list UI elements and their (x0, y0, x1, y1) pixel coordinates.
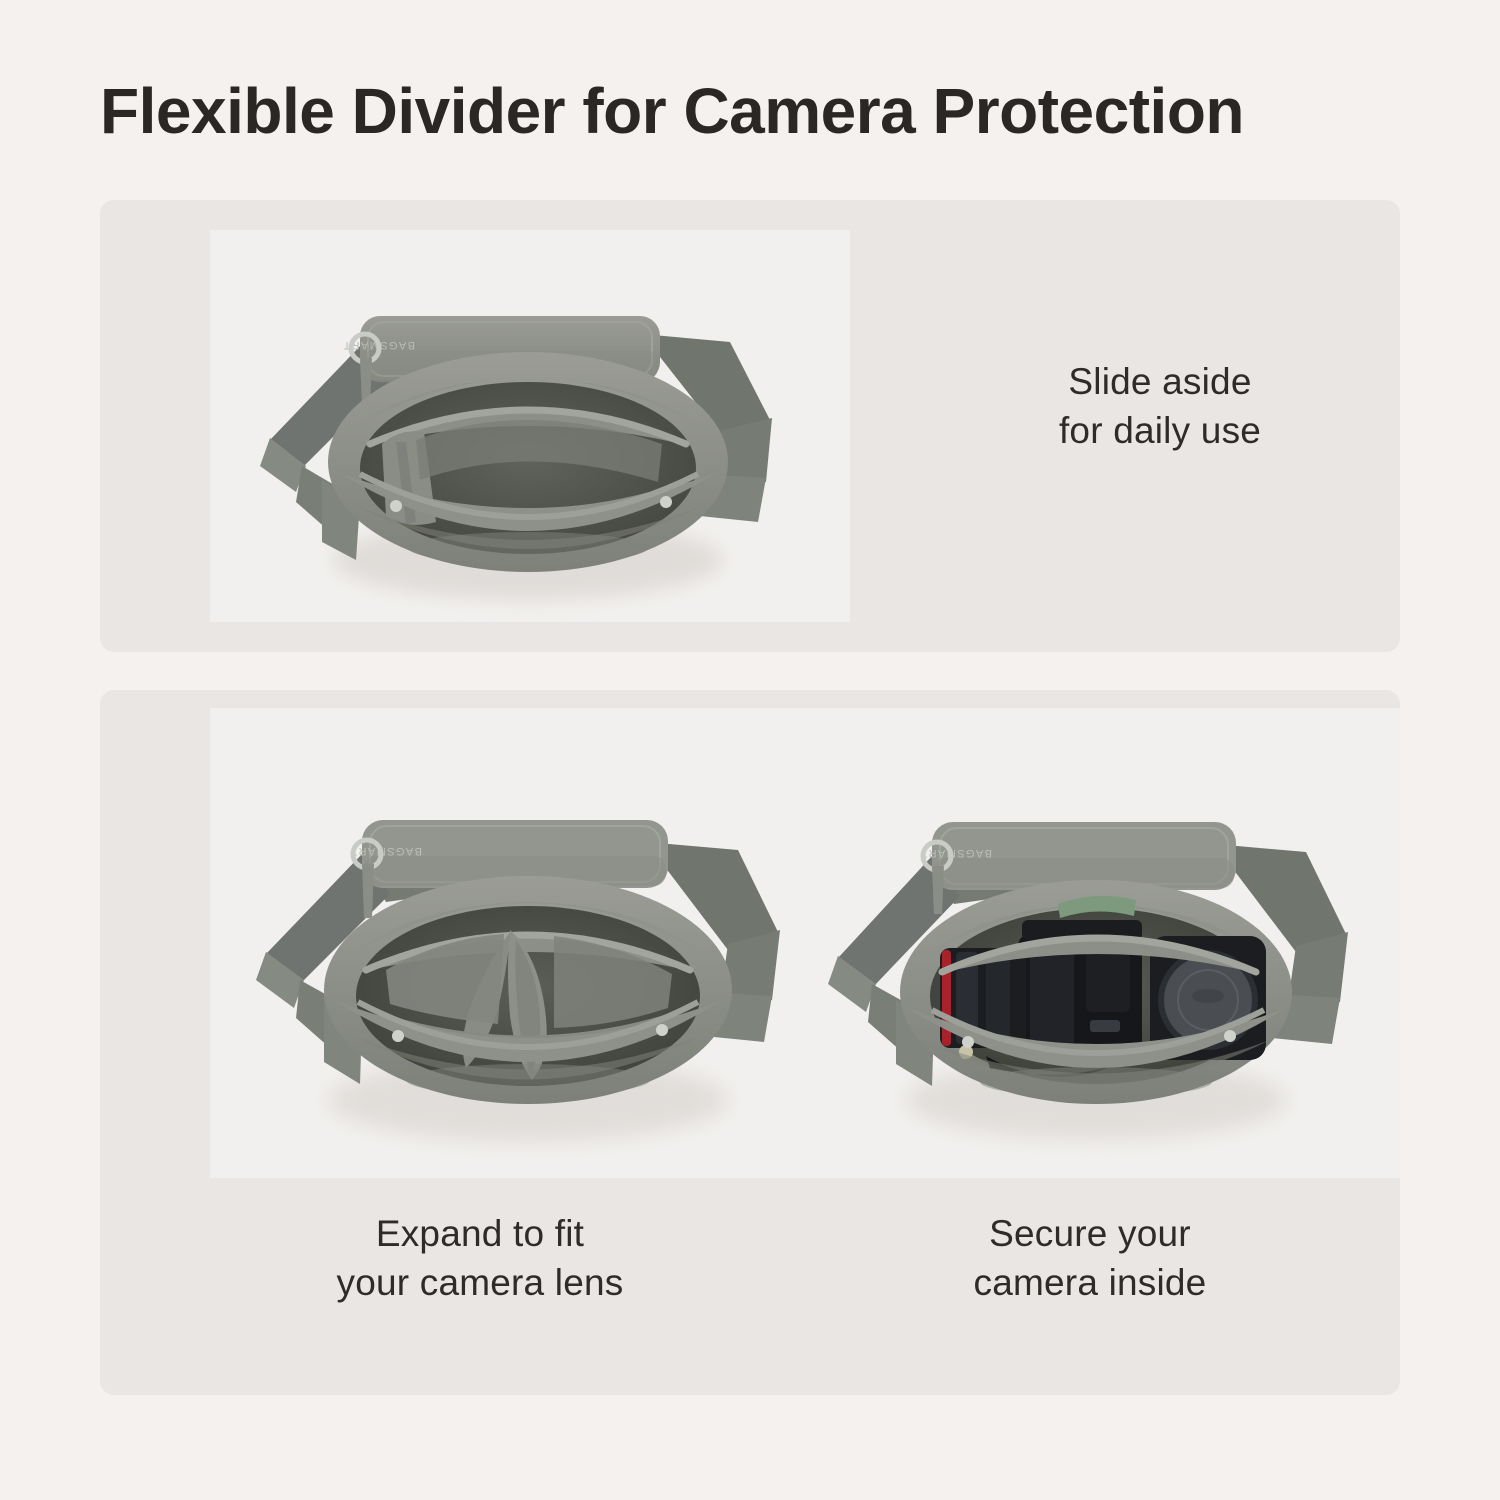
bag-body (328, 352, 728, 572)
photo-bag-with-camera: BAGSMART (790, 708, 1400, 1178)
photo-bag-divider-slid-aside: BAGSMART (210, 230, 850, 622)
shoulder-pad: BAGSMART (919, 822, 1236, 890)
caption-line-1: Expand to fit (190, 1210, 770, 1259)
zipper-pull-secondary (660, 496, 672, 508)
infographic-page: Flexible Divider for Camera Protection (0, 0, 1500, 1500)
brand-label: BAGSMART (349, 845, 422, 857)
caption-line-2: your camera lens (190, 1259, 770, 1308)
caption-line-2: camera inside (800, 1259, 1380, 1308)
zipper-pull-secondary (1224, 1030, 1236, 1042)
zipper-pull (962, 1036, 974, 1048)
photo-bag-divider-expanded: BAGSMART (210, 708, 850, 1178)
camera-port (1090, 1020, 1120, 1032)
zipper-pull (390, 500, 402, 512)
page-title: Flexible Divider for Camera Protection (100, 78, 1420, 145)
top-panel: BAGSMART (100, 200, 1400, 652)
zipper-pull-secondary (656, 1024, 668, 1036)
caption-slide-aside: Slide aside for daily use (910, 358, 1400, 456)
caption-secure-camera: Secure your camera inside (800, 1210, 1380, 1308)
caption-line-1: Slide aside (910, 358, 1400, 407)
brand-label: BAGSMART (919, 847, 992, 859)
caption-line-2: for daily use (910, 407, 1400, 456)
caption-expand-to-fit: Expand to fit your camera lens (190, 1210, 770, 1308)
zipper-pull (392, 1030, 404, 1042)
bag-body (324, 876, 732, 1104)
camera-top-plate (1086, 952, 1130, 1012)
camera-grip (1030, 946, 1074, 1050)
caption-line-1: Secure your (800, 1210, 1380, 1259)
bottom-panel: BAGSMART (100, 690, 1400, 1395)
bag-body (900, 880, 1292, 1104)
